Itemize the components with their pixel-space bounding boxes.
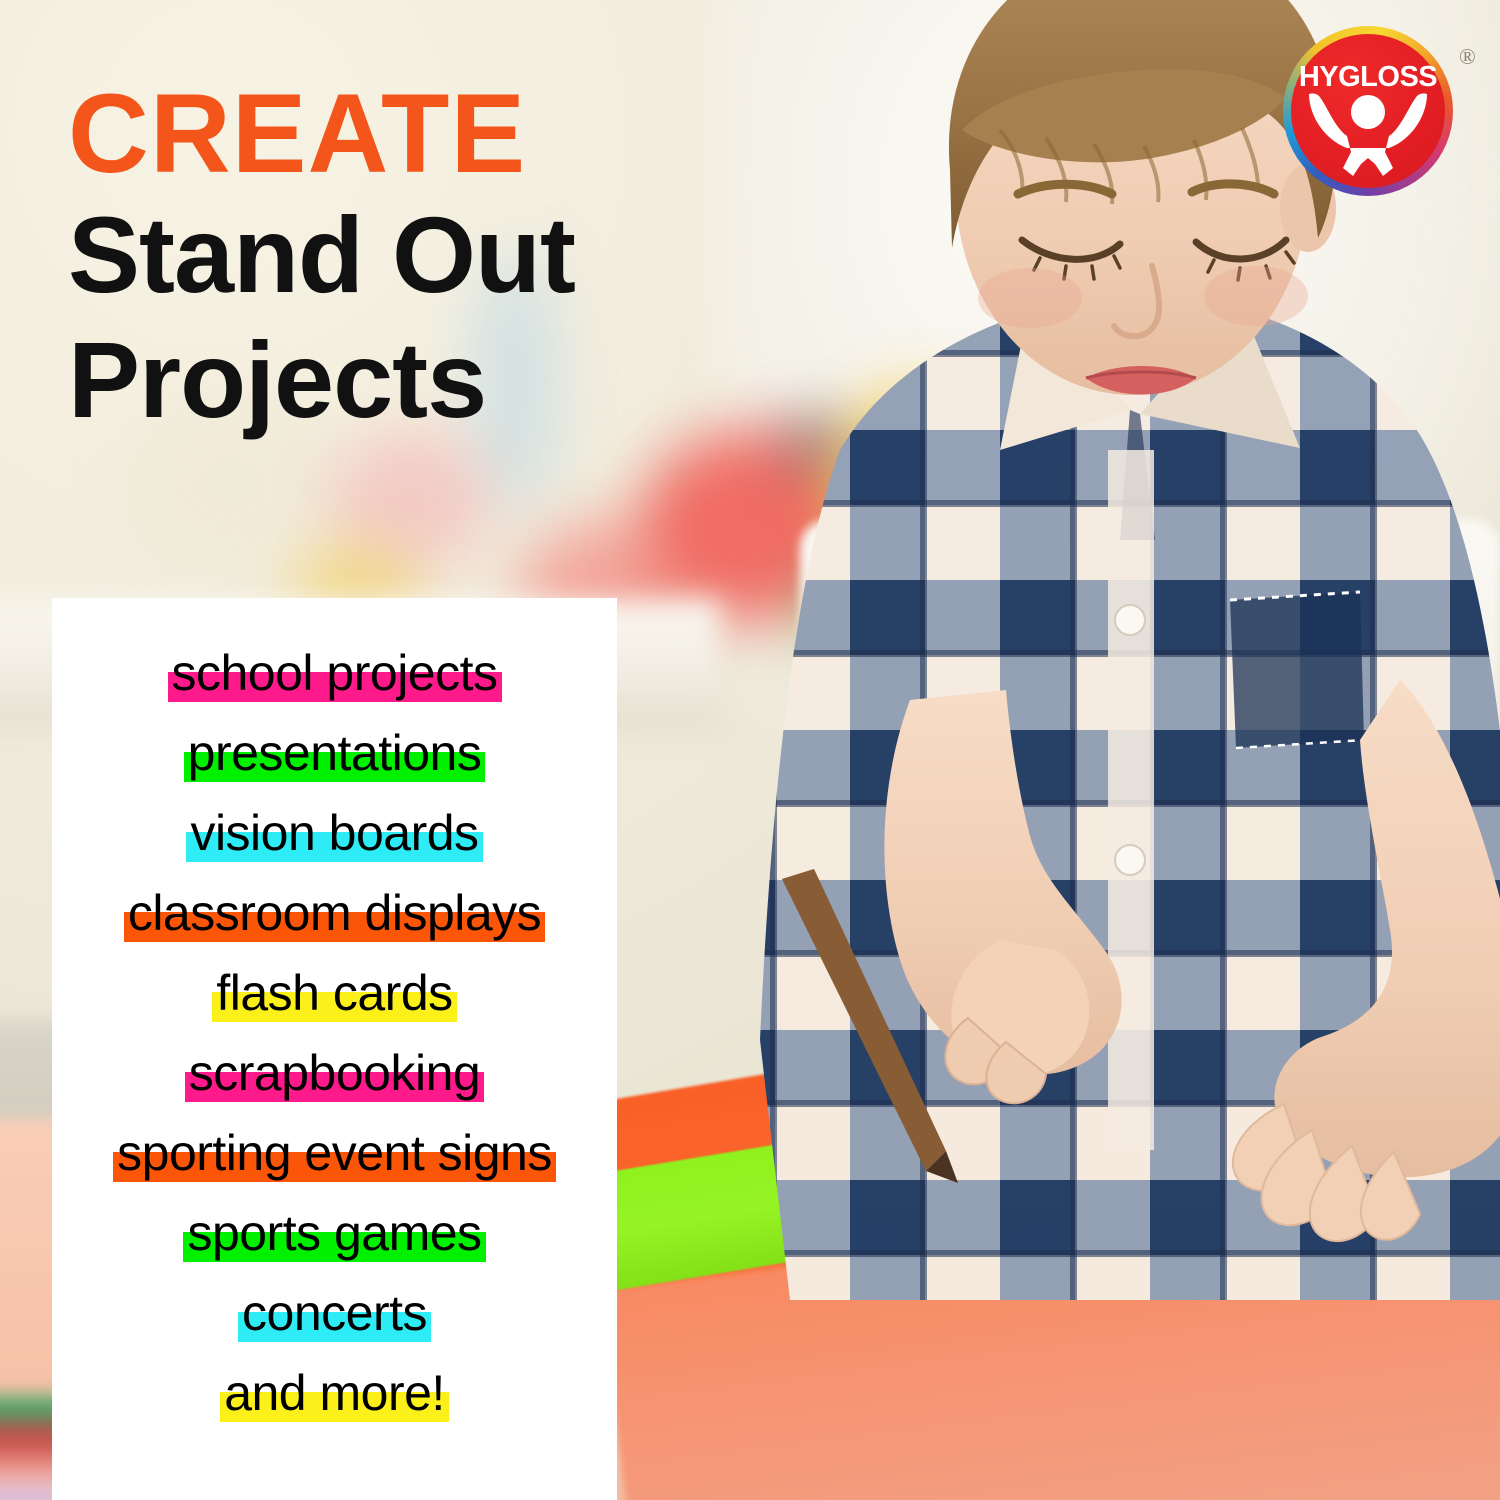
use-case-item: concerts	[52, 1288, 617, 1360]
product-marketing-image: CREATE Stand Out Projects school project…	[0, 0, 1500, 1500]
use-case-item: school projects	[52, 648, 617, 720]
photo-pencil	[760, 865, 1000, 1195]
use-case-label: concerts	[238, 1288, 431, 1338]
use-case-item: sporting event signs	[52, 1128, 617, 1200]
use-case-item: scrapbooking	[52, 1048, 617, 1120]
use-case-item: flash cards	[52, 968, 617, 1040]
hygloss-logo: HYGLOSS	[1283, 26, 1453, 196]
use-case-item: vision boards	[52, 808, 617, 880]
use-case-label: presentations	[184, 728, 486, 778]
use-case-item: classroom displays	[52, 888, 617, 960]
use-case-label: sporting event signs	[113, 1128, 556, 1178]
registered-mark: ®	[1459, 44, 1476, 70]
use-case-label: scrapbooking	[185, 1048, 484, 1098]
use-case-item: presentations	[52, 728, 617, 800]
use-case-label: sports games	[183, 1208, 485, 1258]
use-case-item: sports games	[52, 1208, 617, 1280]
headline-line-stand-out: Stand Out	[68, 192, 948, 317]
headline-create: CREATE	[68, 78, 948, 190]
headline-subtitle: Stand Out Projects	[68, 192, 948, 443]
use-case-label: classroom displays	[124, 888, 545, 938]
use-case-label: flash cards	[212, 968, 456, 1018]
uses-panel: school projectspresentationsvision board…	[52, 598, 617, 1500]
child-figure-arms-up-icon	[1307, 90, 1429, 182]
uses-list: school projectspresentationsvision board…	[52, 648, 617, 1448]
headline-line-projects: Projects	[68, 317, 948, 442]
headline-block: CREATE Stand Out Projects	[68, 78, 948, 443]
use-case-label: and more!	[220, 1368, 449, 1418]
use-case-label: vision boards	[186, 808, 482, 858]
use-case-label: school projects	[168, 648, 502, 698]
use-case-item: and more!	[52, 1368, 617, 1440]
